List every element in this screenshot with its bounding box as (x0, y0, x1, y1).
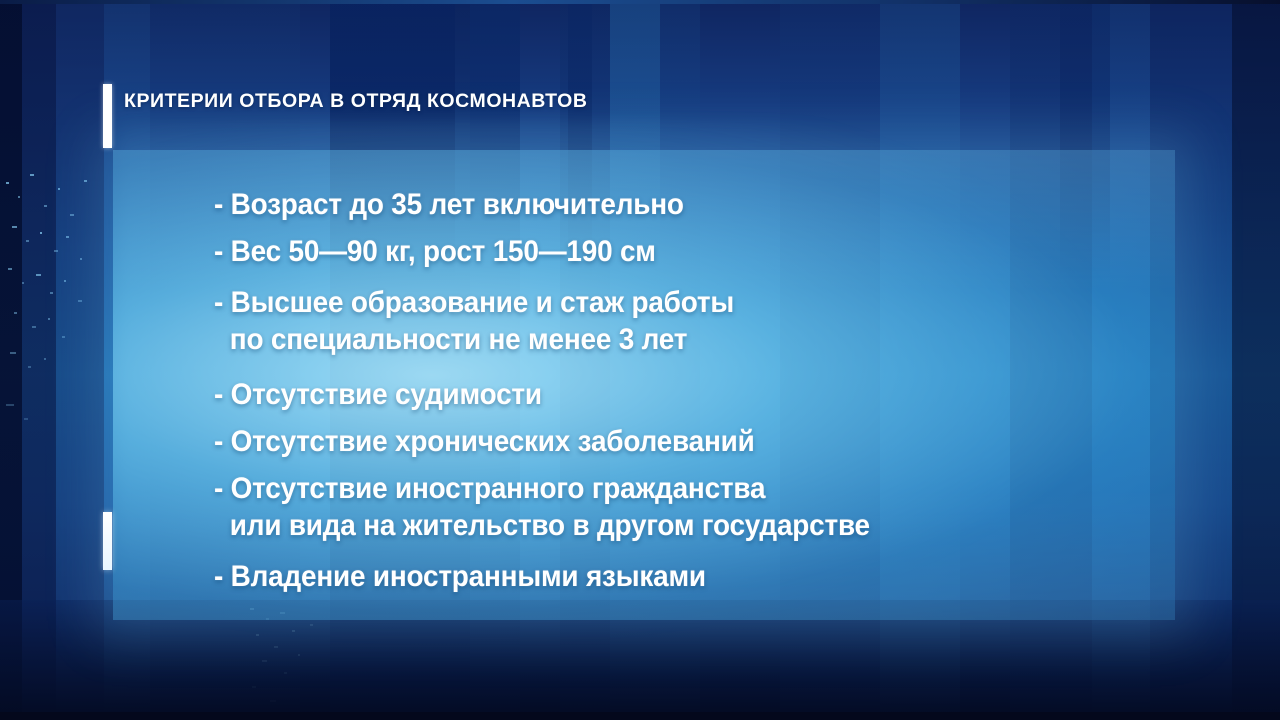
city-lights-texture (0, 0, 110, 660)
list-item-line1: - Отсутствие хронических заболеваний (214, 425, 755, 458)
list-item-line1: - Отсутствие иностранного гражданства (214, 472, 765, 505)
list-item: - Возраст до 35 лет включительно (214, 186, 1051, 223)
secondary-accent-bar (103, 512, 112, 570)
list-item-line1: - Высшее образование и стаж работы (214, 286, 734, 319)
top-edge-strip (0, 0, 1280, 4)
criteria-list: - Возраст до 35 лет включительно - Вес 5… (214, 186, 1114, 595)
bottom-edge-strip (0, 712, 1280, 720)
broadcast-slide: КРИТЕРИИ ОТБОРА В ОТРЯД КОСМОНАВТОВ - Во… (0, 0, 1280, 720)
page-title-label: КРИТЕРИИ ОТБОРА В ОТРЯД КОСМОНАВТОВ (124, 90, 588, 113)
list-item-line1: - Владение иностранными языками (214, 560, 706, 593)
list-item: - Отсутствие хронических заболеваний (214, 423, 1051, 460)
list-item: - Отсутствие судимости (214, 376, 1051, 413)
list-item-line1: - Отсутствие судимости (214, 378, 542, 411)
list-item: - Высшее образование и стаж работы по сп… (214, 284, 1051, 358)
list-item-line1: - Возраст до 35 лет включительно (214, 188, 684, 221)
list-item: - Владение иностранными языками (214, 558, 1051, 595)
list-item: - Отсутствие иностранного гражданства ил… (214, 470, 1051, 544)
list-item-line2: или вида на жительство в другом государс… (214, 507, 1051, 544)
list-item-line2: по специальности не менее 3 лет (214, 321, 1051, 358)
list-item: - Вес 50—90 кг, рост 150—190 см (214, 233, 1051, 270)
list-item-line1: - Вес 50—90 кг, рост 150—190 см (214, 235, 656, 268)
page-title: КРИТЕРИИ ОТБОРА В ОТРЯД КОСМОНАВТОВ (103, 84, 588, 148)
title-accent-bar (103, 84, 112, 148)
